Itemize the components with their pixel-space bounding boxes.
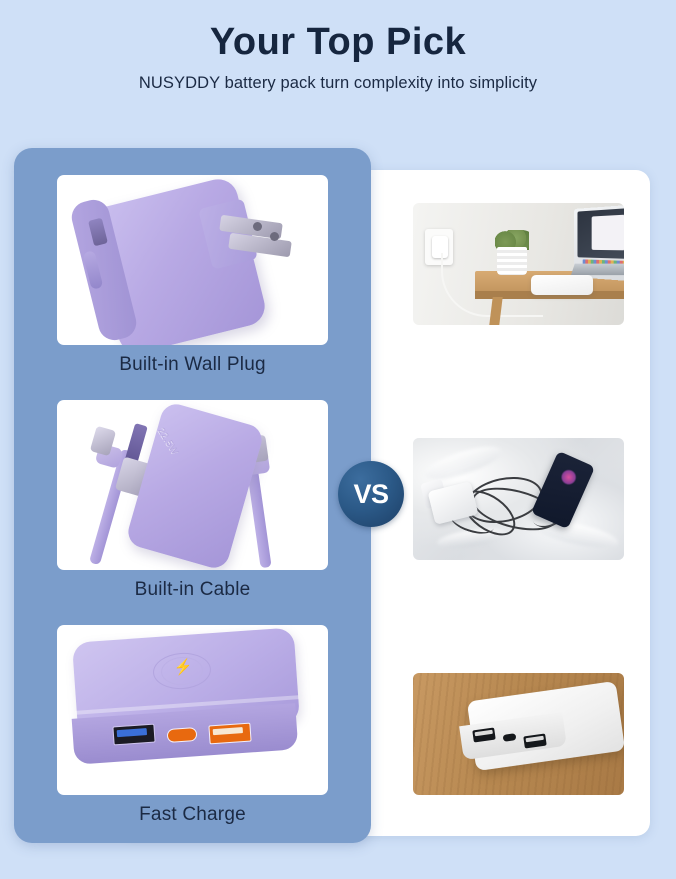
- vs-label: VS: [353, 479, 388, 510]
- laptop-screen: [577, 208, 624, 259]
- vs-badge: VS: [338, 461, 404, 527]
- wall-plug-icon: [57, 175, 328, 345]
- fast-charge-icon: ⚡: [57, 625, 328, 795]
- separate-wall-adapter-photo: [413, 203, 624, 325]
- feature-built-in-cable: 22.5W Built-in Cable: [57, 400, 328, 601]
- tangled-cables-photo: [413, 438, 624, 560]
- product-panel: Built-in Wall Plug 22.5W Built-in Cab: [14, 148, 371, 843]
- screen-window: [592, 215, 624, 251]
- lightning-bolt-icon: ⚡: [173, 659, 188, 678]
- feature-label: Built-in Wall Plug: [57, 345, 328, 376]
- feature-fast-charge: ⚡ Fast Charge: [57, 625, 328, 826]
- comparison-container: Built-in Wall Plug 22.5W Built-in Cab: [0, 0, 676, 879]
- laptop-keyboard: [571, 264, 624, 276]
- feature-label: Fast Charge: [57, 795, 328, 826]
- phone-screen-glow: [558, 467, 579, 488]
- usb-a-port-icon: [112, 724, 155, 746]
- prong-hole: [270, 232, 279, 241]
- feature-built-in-wall-plug: Built-in Wall Plug: [57, 175, 328, 376]
- prong-hole: [253, 222, 262, 231]
- plant-pot: [497, 247, 527, 275]
- standard-ports-photo: [413, 673, 624, 795]
- feature-label: Built-in Cable: [57, 570, 328, 601]
- usb-a-fast-charge-port-icon: [208, 723, 251, 745]
- white-power-bank: [531, 275, 593, 295]
- usb-c-port-icon: [167, 727, 198, 743]
- cable-icon: 22.5W: [57, 400, 328, 570]
